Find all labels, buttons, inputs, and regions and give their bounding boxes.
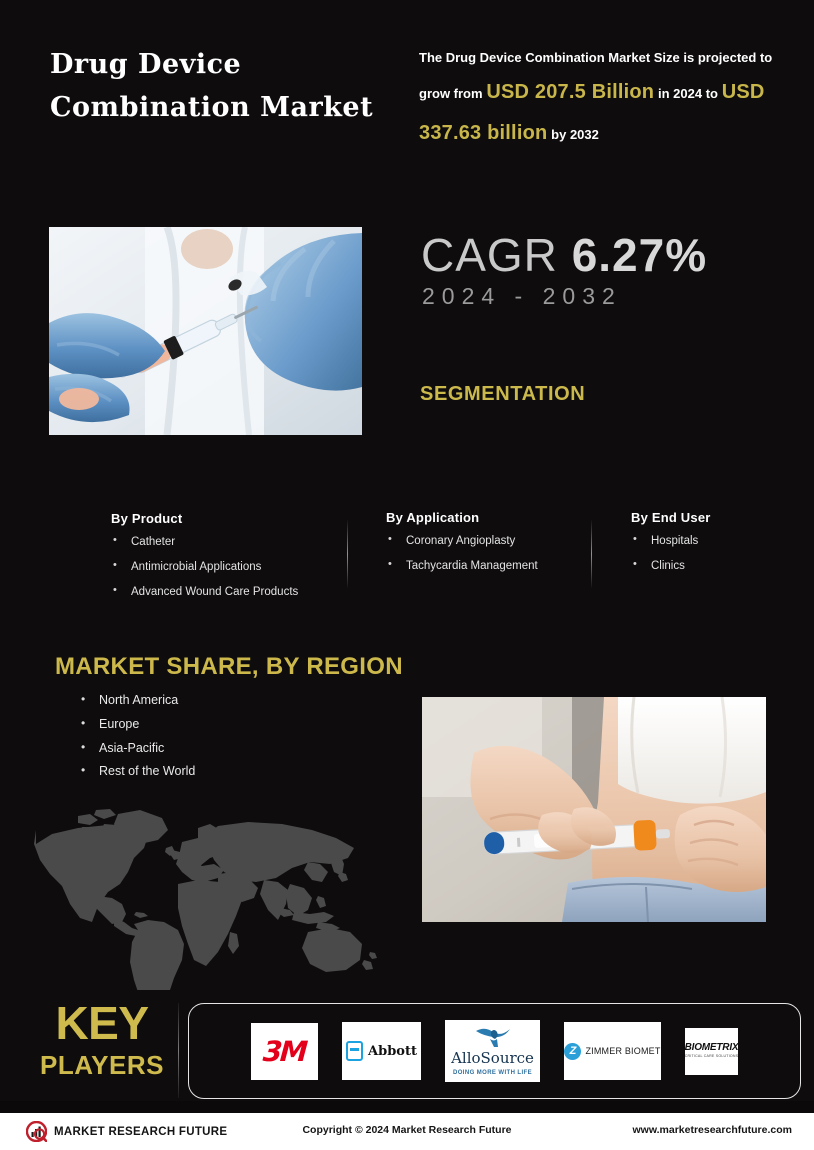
- list-item: Asia-Pacific: [79, 742, 195, 756]
- list-item: Catheter: [111, 536, 298, 548]
- segmentation-heading-by-end-user: By End User: [631, 510, 711, 525]
- headline-statement: The Drug Device Combination Market Size …: [419, 44, 804, 154]
- segmentation-column-by-product: By Product Catheter Antimicrobial Applic…: [111, 511, 298, 611]
- key-players-label: KEY PLAYERS: [32, 1002, 172, 1077]
- segmentation-heading-by-application: By Application: [386, 510, 538, 525]
- cagr-block: CAGR 6.27%: [421, 228, 707, 282]
- logo-zimmer-text: ZIMMER BIOMET: [585, 1046, 660, 1056]
- insulin-pen-photo: [422, 697, 766, 922]
- allosource-figure-icon: [474, 1025, 512, 1047]
- list-item: North America: [79, 694, 195, 708]
- footer-bar: MARKET RESEARCH FUTURE Copyright © 2024 …: [0, 1113, 814, 1150]
- list-item: Coronary Angioplasty: [386, 535, 538, 547]
- world-map-graphic: [22, 800, 392, 990]
- logo-biometrix[interactable]: BIOMETRIX CRITICAL CARE SOLUTIONS: [685, 1028, 738, 1075]
- zimmer-z-icon: Z: [564, 1043, 581, 1060]
- list-item: Rest of the World: [79, 765, 195, 779]
- headline-amount-2024: USD 207.5 Billion: [486, 81, 654, 103]
- market-share-region-list: North America Europe Asia-Pacific Rest o…: [79, 694, 195, 789]
- logo-biometrix-tagline: CRITICAL CARE SOLUTIONS: [685, 1055, 738, 1059]
- logo-biometrix-group: BIOMETRIX CRITICAL CARE SOLUTIONS: [685, 1043, 738, 1059]
- list-item: Tachycardia Management: [386, 560, 538, 572]
- key-players-line2: PLAYERS: [32, 1053, 172, 1078]
- headline-text-part3: by 2032: [551, 127, 599, 142]
- segmentation-column-by-end-user: By End User Hospitals Clinics: [631, 510, 711, 585]
- list-item: Hospitals: [631, 535, 711, 547]
- syringe-photo: [49, 227, 362, 435]
- segmentation-column-by-application: By Application Coronary Angioplasty Tach…: [386, 510, 538, 585]
- segmentation-divider-1: [347, 520, 348, 588]
- footer-strip: [0, 1101, 814, 1113]
- segmentation-heading-by-product: By Product: [111, 511, 298, 526]
- abbott-a-icon: [346, 1041, 363, 1061]
- logo-3m-text: 3M: [262, 1035, 307, 1068]
- cagr-label: CAGR: [421, 229, 558, 281]
- logo-zimmer-biomet[interactable]: Z ZIMMER BIOMET: [564, 1022, 661, 1080]
- segmentation-list-by-end-user: Hospitals Clinics: [631, 535, 711, 572]
- segmentation-heading: SEGMENTATION: [420, 383, 585, 406]
- page-title: Drug Device Combination Market: [50, 43, 380, 129]
- headline-text-part2: in 2024 to: [658, 86, 718, 101]
- segmentation-divider-2: [591, 520, 592, 588]
- list-item: Advanced Wound Care Products: [111, 586, 298, 598]
- logo-allosource-group: AlloSource Doing More With Life: [451, 1025, 534, 1077]
- key-players-divider: [178, 1003, 179, 1098]
- segmentation-list-by-application: Coronary Angioplasty Tachycardia Managem…: [386, 535, 538, 572]
- footer-website-url[interactable]: www.marketresearchfuture.com: [632, 1124, 792, 1136]
- cagr-value: 6.27%: [572, 229, 707, 281]
- logo-allosource[interactable]: AlloSource Doing More With Life: [445, 1020, 540, 1082]
- market-share-heading: MARKET SHARE, BY REGION: [55, 653, 403, 681]
- logo-abbott-text: Abbott: [368, 1044, 417, 1059]
- logo-abbott-group: Abbott: [346, 1041, 417, 1061]
- list-item: Europe: [79, 718, 195, 732]
- logo-allosource-tagline: Doing More With Life: [451, 1069, 534, 1077]
- logo-biometrix-text: BIOMETRIX: [685, 1043, 738, 1053]
- list-item: Antimicrobial Applications: [111, 561, 298, 573]
- cagr-year-range: 2024 - 2032: [422, 283, 622, 310]
- key-players-logo-row: 3M Abbott AlloSource Doing More With Lif…: [188, 1003, 801, 1099]
- infographic-page: Drug Device Combination Market The Drug …: [0, 0, 814, 1150]
- logo-allosource-text: AlloSource: [451, 1051, 534, 1066]
- list-item: Clinics: [631, 560, 711, 572]
- key-players-line1: KEY: [32, 1002, 172, 1046]
- logo-abbott[interactable]: Abbott: [342, 1022, 421, 1080]
- logo-3m[interactable]: 3M: [251, 1023, 318, 1080]
- logo-zimmer-group: Z ZIMMER BIOMET: [564, 1043, 661, 1060]
- segmentation-list-by-product: Catheter Antimicrobial Applications Adva…: [111, 536, 298, 598]
